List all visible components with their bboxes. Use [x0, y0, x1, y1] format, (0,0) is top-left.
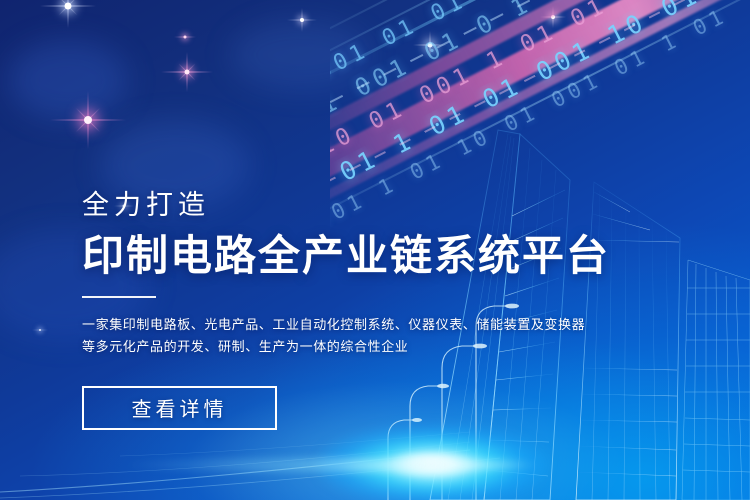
data-ribbon-magenta: [330, 0, 750, 169]
binary-digits-row: 001 01 1 01 01 001 10 01 01 1: [330, 0, 750, 223]
view-details-button[interactable]: 查看详情: [82, 386, 277, 430]
data-line-cyan: [330, 0, 750, 70]
data-line-cyan: [330, 0, 750, 92]
eyebrow-text: 全力打造: [82, 192, 682, 219]
title-divider: [82, 296, 156, 298]
nebula-haze: [230, 20, 370, 90]
binary-digits-row: 1 01 001 01 0 1 1001 01 001 0: [330, 0, 750, 146]
data-dash-line: [330, 0, 750, 222]
data-line-cyan: [330, 0, 750, 115]
binary-digits-row: 01 001 01 01 0 1001 01 10 01: [330, 0, 750, 110]
data-ribbon-magenta: [330, 0, 750, 215]
hero-banner: 01 001 01 01 0 1001 01 10 01 1 01 001 01…: [0, 0, 750, 500]
center-glow-core: [392, 452, 470, 476]
description-line-1: 一家集印制电路板、光电产品、工业自动化控制系统、仪器仪表、储能装置及变换器: [82, 314, 552, 336]
hero-content: 全力打造 印制电路全产业链系统平台 一家集印制电路板、光电产品、工业自动化控制系…: [82, 192, 682, 430]
description-text: 一家集印制电路板、光电产品、工业自动化控制系统、仪器仪表、储能装置及变换器 等多…: [82, 314, 552, 358]
page-title: 印制电路全产业链系统平台: [82, 233, 682, 278]
description-line-2: 等多元化产品的开发、研制、生产为一体的综合性企业: [82, 336, 552, 358]
center-glow: [318, 426, 548, 500]
data-dash-line: [330, 0, 750, 144]
nebula-haze: [8, 40, 128, 120]
binary-digits-row: 01 10 01 001 1 01 01 1001 01: [330, 0, 750, 187]
glow-beam: [120, 458, 540, 472]
